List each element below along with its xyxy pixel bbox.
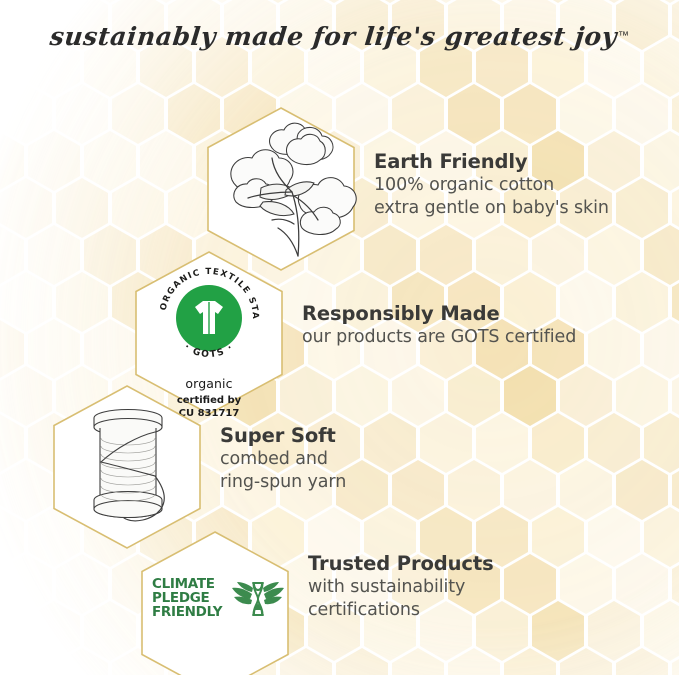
earth-friendly-text-block: Earth Friendly 100% organic cotton extra… (374, 150, 609, 220)
earth-friendly-line-1: 100% organic cotton (374, 174, 609, 197)
trusted-products-text-block: Trusted Products with sustainability cer… (308, 552, 494, 622)
earth-friendly-line-2: extra gentle on baby's skin (374, 197, 609, 220)
page-headline: sustainably made for life's greatest joy… (0, 22, 679, 51)
responsibly-made-text-block: Responsibly Made our products are GOTS c… (302, 302, 576, 349)
winged-hourglass-icon (231, 578, 285, 620)
climate-pledge-friendly-logo: CLIMATE PLEDGE FRIENDLY (152, 578, 285, 620)
infographic-canvas: sustainably made for life's greatest joy… (0, 0, 679, 675)
cotton-plant-sketch-icon (214, 114, 364, 266)
trademark-symbol: ™ (618, 30, 629, 42)
climate-pledge-friendly-wordmark: CLIMATE PLEDGE FRIENDLY (152, 578, 222, 620)
cpf-line-3: FRIENDLY (152, 606, 222, 620)
responsibly-made-line-1: our products are GOTS certified (302, 326, 576, 349)
responsibly-made-title: Responsibly Made (302, 302, 576, 326)
super-soft-title: Super Soft (220, 424, 346, 448)
headline-text: sustainably made for life's greatest joy (48, 22, 618, 51)
super-soft-line-2: ring-spun yarn (220, 471, 346, 494)
trusted-products-line-1: with sustainability (308, 576, 494, 599)
gots-seal-icon: GLOBAL ORGANIC TEXTILE STANDARD · GOTS · (151, 260, 267, 376)
thread-spool-sketch-icon (76, 404, 188, 530)
trusted-products-line-2: certifications (308, 599, 494, 622)
earth-friendly-title: Earth Friendly (374, 150, 609, 174)
trusted-products-title: Trusted Products (308, 552, 494, 576)
feature-trusted-products: CLIMATE PLEDGE FRIENDLY (130, 528, 660, 675)
super-soft-text-block: Super Soft combed and ring-spun yarn (220, 424, 346, 494)
super-soft-line-1: combed and (220, 448, 346, 471)
